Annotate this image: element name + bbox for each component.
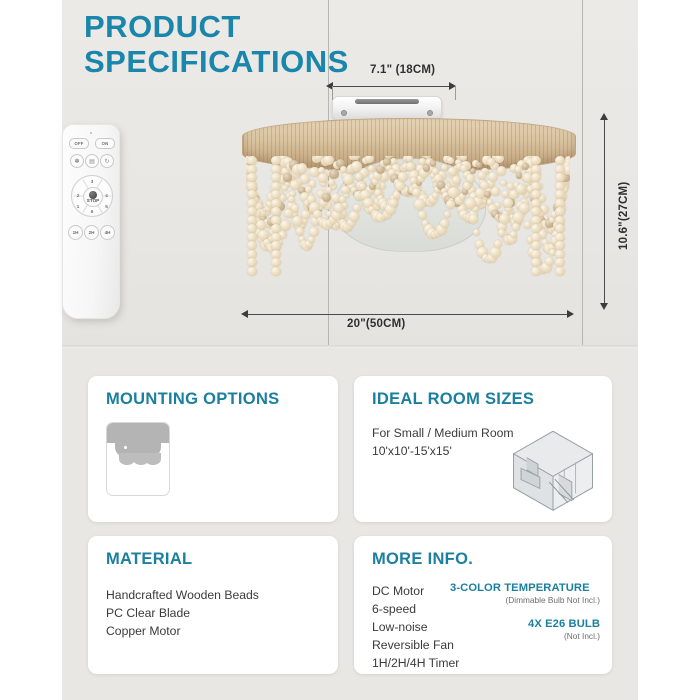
wooden-bead xyxy=(247,173,256,182)
wooden-bead xyxy=(500,180,507,187)
material-title: MATERIAL xyxy=(106,550,192,569)
wooden-bead xyxy=(343,174,354,185)
height-label: 10.6"(27CM) xyxy=(618,182,630,250)
mounting-bracket xyxy=(355,99,419,104)
dim-arrow-up xyxy=(600,113,608,120)
dim-arrow-left xyxy=(241,310,248,318)
wooden-bead xyxy=(490,247,501,258)
dim-line xyxy=(332,86,450,87)
wooden-bead xyxy=(531,267,540,276)
wooden-bead xyxy=(389,199,397,207)
wooden-bead xyxy=(353,204,361,212)
wooden-bead xyxy=(328,179,335,186)
room-size-line2: 10'x10'-15'x15' xyxy=(372,442,514,460)
flush-mount-icon xyxy=(106,422,170,496)
wall-seam xyxy=(582,0,583,347)
wooden-bead xyxy=(351,156,360,160)
more-info-item: 6-speed xyxy=(372,600,459,618)
wooden-bead xyxy=(531,258,540,267)
wooden-bead xyxy=(247,258,256,267)
stop-label: STOP xyxy=(84,198,102,203)
more-info-list: DC Motor 6-speed Low-noise Reversible Fa… xyxy=(372,582,459,672)
more-info-title: MORE INFO. xyxy=(372,550,473,569)
wooden-bead xyxy=(393,191,400,198)
wooden-bead xyxy=(531,173,540,182)
speed-6-button[interactable]: 6 xyxy=(89,209,95,214)
wooden-bead xyxy=(531,156,540,165)
room-sizes-body: For Small / Medium Room 10'x10'-15'x15' xyxy=(372,424,514,460)
wooden-bead xyxy=(247,267,256,276)
badge-bulb: 4X E26 BULB (Not Incl.) xyxy=(450,618,600,641)
wooden-bead xyxy=(292,216,303,227)
wooden-bead xyxy=(555,173,564,182)
wooden-bead xyxy=(355,173,363,181)
wooden-bead xyxy=(418,211,426,219)
wooden-bead xyxy=(465,198,476,209)
wooden-bead xyxy=(555,267,564,276)
wooden-bead xyxy=(515,166,522,173)
timer-2h-button[interactable]: 2H xyxy=(84,225,99,240)
wooden-bead xyxy=(297,163,308,174)
wooden-bead xyxy=(309,227,319,237)
card-material: MATERIAL Handcrafted Wooden Beads PC Cle… xyxy=(88,536,338,674)
light-icon-button[interactable]: ▤ xyxy=(85,154,99,168)
wooden-bead xyxy=(497,166,506,175)
wooden-bead xyxy=(256,220,266,230)
wooden-bead xyxy=(545,257,554,266)
wooden-bead xyxy=(441,164,448,171)
wooden-bead xyxy=(351,161,362,172)
wooden-bead xyxy=(495,156,504,163)
page-title-line1: PRODUCT xyxy=(84,9,241,44)
wooden-bead xyxy=(247,156,256,165)
wooden-bead xyxy=(410,177,417,184)
dim-tick xyxy=(455,86,456,100)
canopy-screw-icon xyxy=(341,110,347,116)
wooden-bead xyxy=(555,224,564,233)
wooden-bead xyxy=(470,168,476,174)
wooden-bead xyxy=(440,219,450,229)
wooden-bead xyxy=(512,223,520,231)
remote-on-button[interactable]: ON xyxy=(95,138,115,149)
speed-5-button[interactable]: 5 xyxy=(104,204,110,209)
material-list: Handcrafted Wooden Beads PC Clear Blade … xyxy=(106,586,259,640)
room-size-line1: For Small / Medium Room xyxy=(372,424,514,442)
badge2-note: (Not Incl.) xyxy=(450,631,600,641)
dim-line xyxy=(604,120,605,303)
wooden-bead xyxy=(308,236,315,243)
wooden-bead xyxy=(460,156,468,161)
badge1-title: 3-COLOR TEMPERATURE xyxy=(450,582,600,594)
wooden-bead xyxy=(247,241,256,250)
wooden-bead xyxy=(476,162,482,168)
fan-remote-control[interactable]: OFF ON ✽ ▤ ↻ 3 4 5 6 1 2 STOP xyxy=(62,124,120,319)
wooden-bead xyxy=(531,224,540,233)
wooden-bead xyxy=(499,214,510,225)
badge2-title: 4X E26 BULB xyxy=(450,618,600,630)
wooden-bead xyxy=(555,190,564,199)
more-info-badges: 3-COLOR TEMPERATURE (Dimmable Bulb Not I… xyxy=(450,582,600,641)
wooden-bead xyxy=(430,160,437,167)
canopy-width-label: 7.1" (18CM) xyxy=(370,64,435,76)
wooden-bead xyxy=(296,227,304,235)
more-info-item: 1H/2H/4H Timer xyxy=(372,654,459,672)
dim-arrow-down xyxy=(600,303,608,310)
page-title-line2: SPECIFICATIONS xyxy=(84,45,349,80)
wooden-bead xyxy=(282,185,288,191)
speed-2-button[interactable]: 2 xyxy=(75,193,81,198)
wooden-bead xyxy=(368,165,375,172)
timer-1h-button[interactable]: 1H xyxy=(68,225,83,240)
wooden-bead xyxy=(478,171,487,180)
dim-arrow-right xyxy=(567,310,574,318)
material-item: Copper Motor xyxy=(106,622,259,640)
wooden-bead xyxy=(247,224,256,233)
wooden-bead xyxy=(271,207,280,216)
specs-card-grid: MOUNTING OPTIONS IDEAL ROOM SIZES For Sm… xyxy=(62,348,638,700)
wooden-bead xyxy=(555,258,564,267)
wooden-bead xyxy=(280,220,291,231)
dim-tick xyxy=(332,86,333,100)
wooden-bead xyxy=(329,169,339,179)
badge-color-temperature: 3-COLOR TEMPERATURE (Dimmable Bulb Not I… xyxy=(450,582,600,605)
wooden-bead-drapes xyxy=(246,156,570,306)
badge1-note: (Dimmable Bulb Not Incl.) xyxy=(450,595,600,605)
speed-3-button[interactable]: 3 xyxy=(89,179,95,184)
bead-drape-icon xyxy=(145,453,161,465)
wooden-bead xyxy=(349,211,359,221)
wooden-bead xyxy=(555,241,564,250)
wooden-bead xyxy=(494,240,502,248)
product-image xyxy=(236,96,580,308)
wooden-bead xyxy=(271,241,280,250)
dim-line xyxy=(248,314,568,315)
wooden-bead xyxy=(322,193,331,202)
wooden-bead xyxy=(271,190,280,199)
remote-off-button[interactable]: OFF xyxy=(69,138,89,149)
more-info-item: Low-noise xyxy=(372,618,459,636)
reverse-icon: ↻ xyxy=(104,158,109,165)
wooden-bead xyxy=(519,203,530,214)
wooden-bead xyxy=(531,190,540,199)
wooden-bead xyxy=(339,196,346,203)
more-info-item: Reversible Fan xyxy=(372,636,459,654)
wooden-bead xyxy=(247,190,256,199)
remote-led-icon xyxy=(90,132,92,134)
speed-1-button[interactable]: 1 xyxy=(75,204,81,209)
wooden-bead xyxy=(398,172,408,182)
wooden-bead xyxy=(487,158,495,166)
speed-4-button[interactable]: 4 xyxy=(104,193,110,198)
more-info-item: DC Motor xyxy=(372,582,459,600)
wooden-bead xyxy=(555,156,564,165)
material-item: PC Clear Blade xyxy=(106,604,259,622)
wooden-bead xyxy=(271,173,280,182)
wooden-bead xyxy=(498,229,506,237)
wooden-bead xyxy=(271,258,280,267)
wooden-bead xyxy=(414,199,425,210)
card-mounting-options: MOUNTING OPTIONS xyxy=(88,376,338,522)
room-sizes-title: IDEAL ROOM SIZES xyxy=(372,390,534,409)
wooden-bead xyxy=(491,187,500,196)
wooden-bead xyxy=(524,221,532,229)
wooden-bead xyxy=(488,172,499,183)
wooden-bead xyxy=(469,214,479,224)
wooden-bead xyxy=(513,212,523,222)
wooden-bead xyxy=(484,191,491,198)
fan-icon-button[interactable]: ✽ xyxy=(70,154,84,168)
wooden-bead xyxy=(271,224,280,233)
page-title: PRODUCT SPECIFICATIONS xyxy=(84,10,349,79)
material-item: Handcrafted Wooden Beads xyxy=(106,586,259,604)
fan-icon: ✽ xyxy=(74,158,79,165)
wooden-bead xyxy=(359,183,366,190)
diameter-label: 20"(50CM) xyxy=(347,318,405,330)
wooden-bead xyxy=(446,200,455,209)
wooden-bead xyxy=(395,181,405,191)
isometric-room-icon xyxy=(506,420,600,514)
ceiling-plane-icon xyxy=(107,423,169,443)
wooden-bead xyxy=(271,267,280,276)
timer-4h-button[interactable]: 4H xyxy=(100,225,115,240)
card-more-info: MORE INFO. DC Motor 6-speed Low-noise Re… xyxy=(354,536,612,674)
wooden-bead xyxy=(531,241,540,250)
wooden-bead xyxy=(447,157,454,164)
canopy-screw-icon xyxy=(427,110,433,116)
wooden-bead xyxy=(290,180,300,190)
wooden-bead xyxy=(555,207,564,216)
wooden-bead xyxy=(503,198,513,208)
mounting-title: MOUNTING OPTIONS xyxy=(106,390,279,409)
wooden-bead xyxy=(507,183,514,190)
wooden-bead xyxy=(271,156,280,165)
reverse-icon-button[interactable]: ↻ xyxy=(100,154,114,168)
product-specification-infographic: PRODUCT SPECIFICATIONS OFF ON ✽ ▤ ↻ 3 4 xyxy=(0,0,700,700)
card-ideal-room-sizes: IDEAL ROOM SIZES For Small / Medium Room… xyxy=(354,376,612,522)
wooden-bead xyxy=(365,156,374,163)
wooden-bead xyxy=(341,186,349,194)
fixture-highlight-icon xyxy=(124,446,127,449)
wooden-bead xyxy=(460,165,467,172)
light-icon: ▤ xyxy=(89,158,95,165)
wooden-bead xyxy=(473,229,480,236)
wooden-bead xyxy=(326,187,332,193)
wooden-bead xyxy=(247,207,256,216)
wooden-bead xyxy=(284,209,293,218)
wooden-bead xyxy=(531,207,540,216)
wooden-bead xyxy=(516,172,523,179)
stop-button[interactable]: STOP xyxy=(83,187,103,207)
speed-dial[interactable]: 3 4 5 6 1 2 STOP xyxy=(71,175,113,217)
